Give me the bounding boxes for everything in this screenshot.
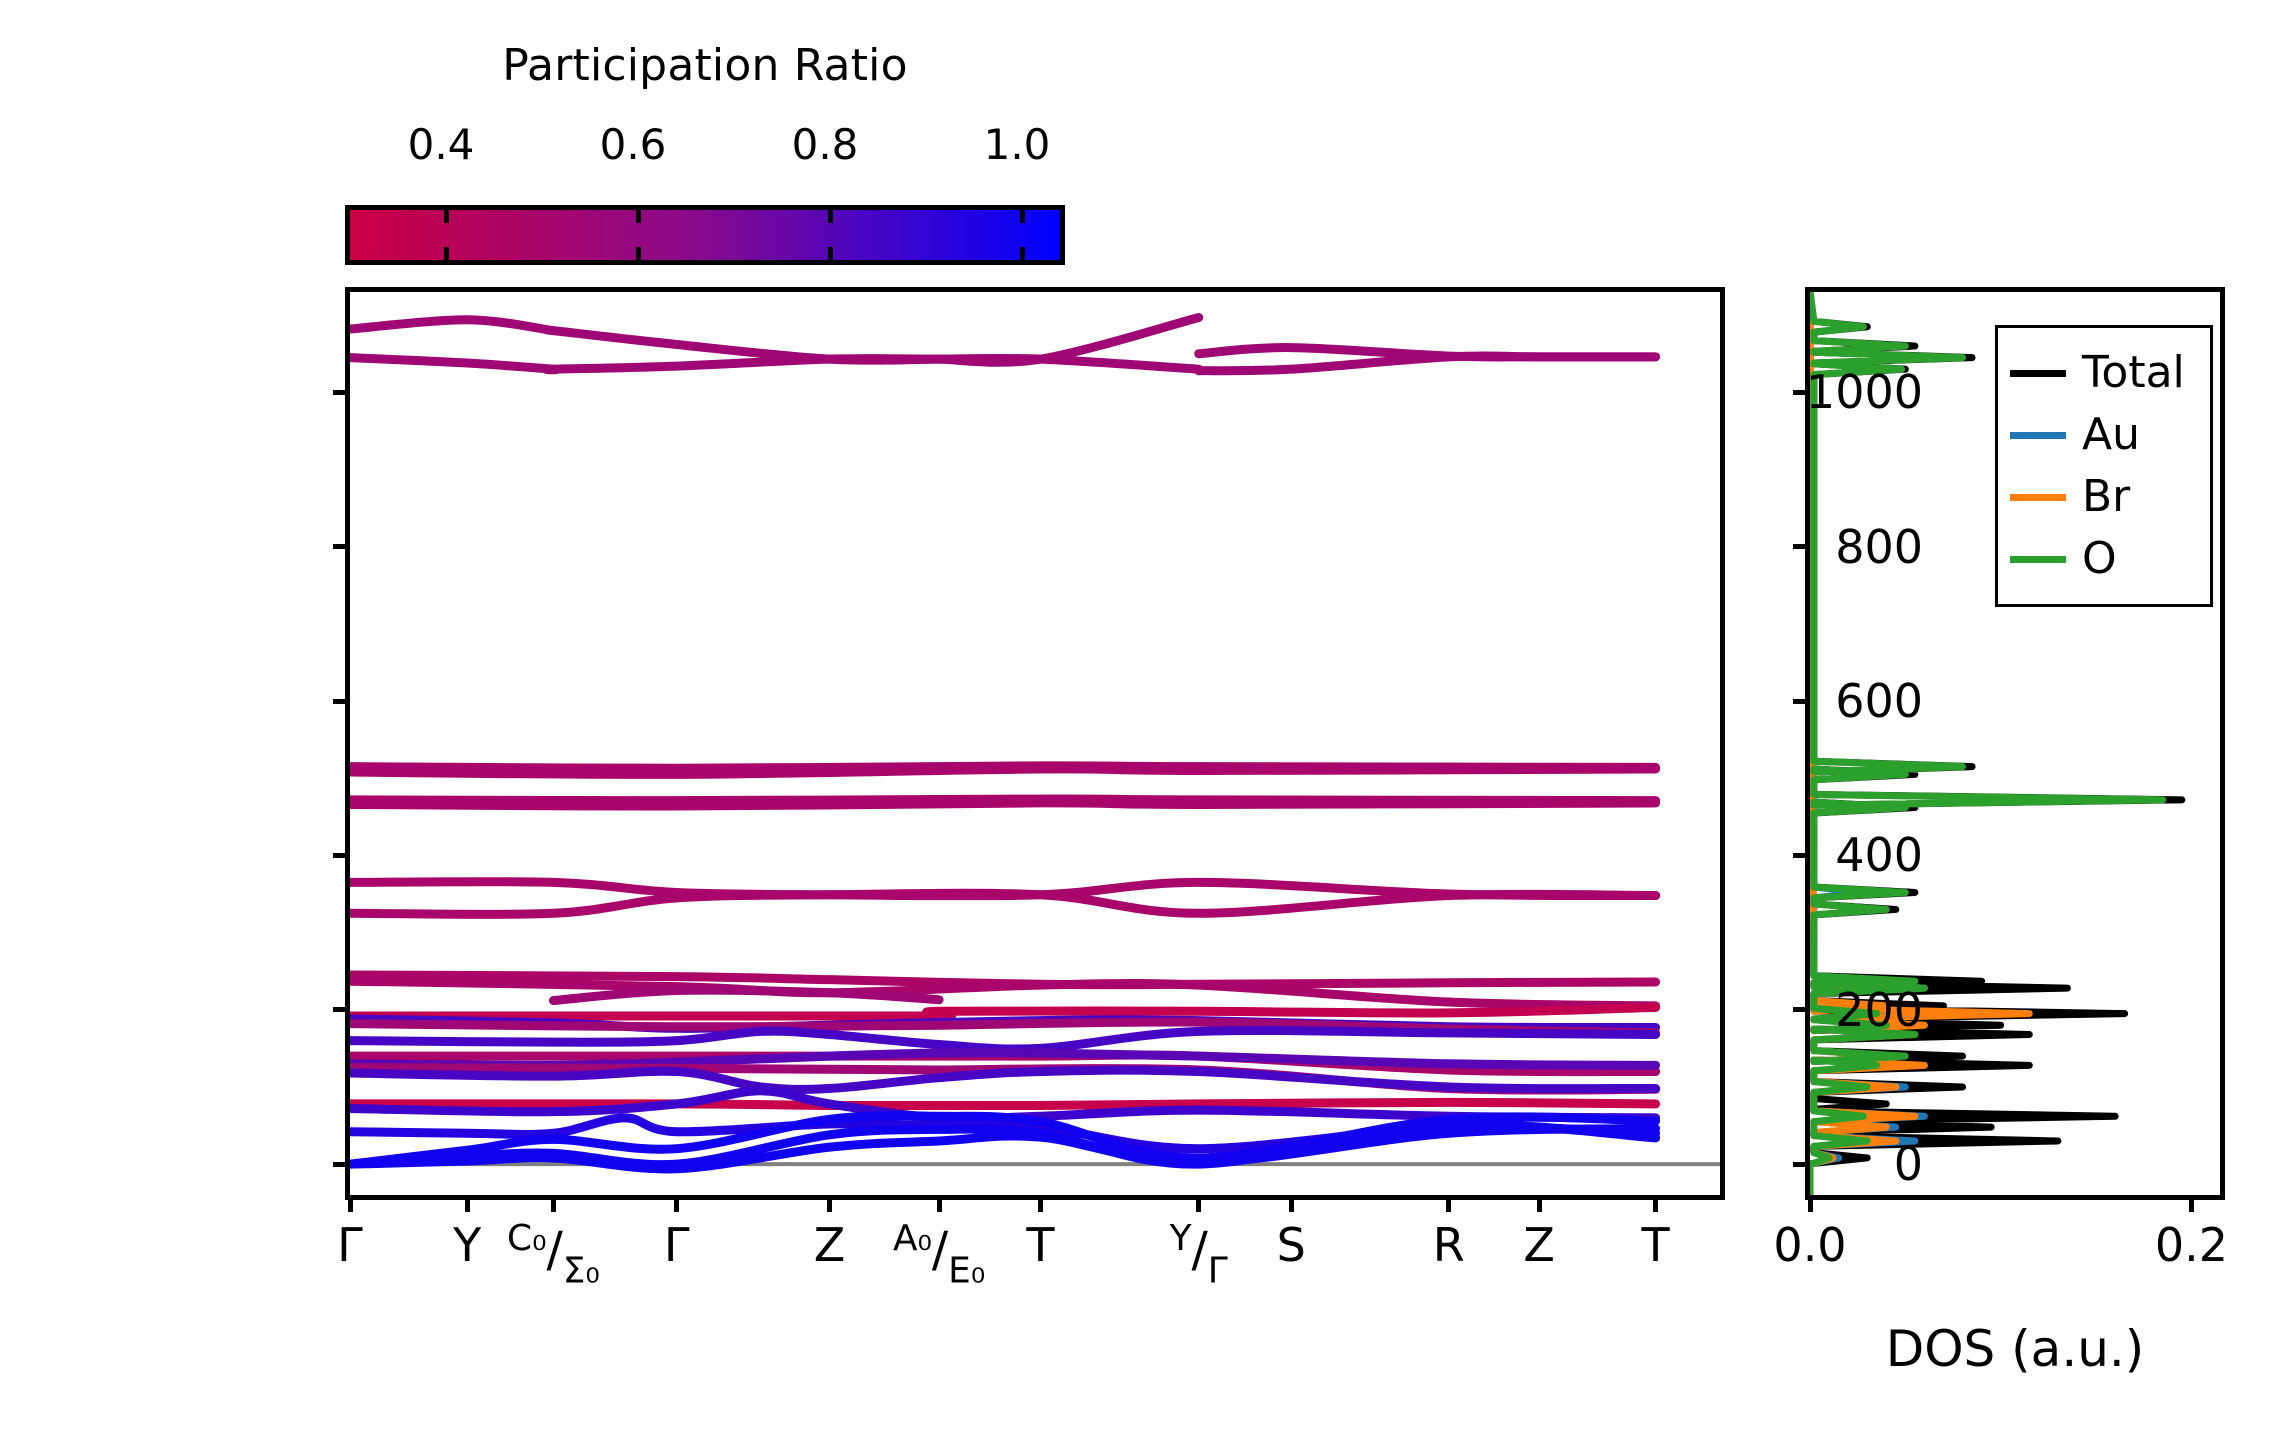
x-axis-tick-label: Γ	[337, 1218, 363, 1272]
colorbar-tick	[828, 247, 833, 260]
x-axis-tick-label: Y	[453, 1218, 481, 1272]
dos-y-axis-tick	[1793, 699, 1810, 704]
phonon-band	[1199, 356, 1656, 371]
x-axis-tick-label: C₀/Σ₀	[507, 1218, 600, 1291]
legend-entry-o: O	[2010, 528, 2198, 590]
x-axis-tick	[1038, 1195, 1043, 1212]
legend-color-swatch	[2010, 556, 2066, 563]
colorbar-title: Participation Ratio	[345, 40, 1065, 91]
x-axis-tick	[348, 1195, 353, 1212]
colorbar-tick-label: 0.6	[563, 120, 703, 169]
y-axis-tick	[333, 699, 350, 704]
dos-x-axis-tick	[1808, 1195, 1813, 1212]
x-axis-tick	[827, 1195, 832, 1212]
y-axis-tick-label: 1000	[1806, 365, 1923, 419]
x-axis-tick	[551, 1195, 556, 1212]
x-axis-tick	[1446, 1195, 1451, 1212]
y-axis-tick	[333, 1007, 350, 1012]
dos-y-axis-tick	[1793, 853, 1810, 858]
colorbar-tick	[444, 247, 449, 260]
colorbar-tick	[1020, 247, 1025, 260]
x-axis-tick-label: S	[1277, 1218, 1306, 1272]
y-axis-tick-label: 400	[1835, 828, 1923, 882]
y-axis-tick-label: 0	[1894, 1137, 1923, 1191]
phonon-band	[350, 803, 1656, 806]
y-axis-tick-label: 800	[1835, 520, 1923, 574]
y-axis-tick	[333, 853, 350, 858]
phonon-band	[350, 893, 1656, 914]
x-axis-tick-label: A₀/E₀	[893, 1218, 985, 1291]
colorbar-box	[345, 205, 1065, 265]
x-axis-tick-label: Z	[814, 1218, 846, 1272]
legend-color-swatch	[2010, 370, 2066, 377]
x-axis-tick	[1289, 1195, 1294, 1212]
legend-entry-au: Au	[2010, 404, 2198, 466]
phonon-band	[350, 1007, 1656, 1016]
x-axis-tick	[1653, 1195, 1658, 1212]
x-axis-tick	[1537, 1195, 1542, 1212]
legend-label: Total	[2082, 351, 2185, 395]
legend-color-swatch	[2010, 432, 2066, 439]
x-axis-tick-label: Y/Γ	[1170, 1218, 1228, 1291]
legend-color-swatch	[2010, 494, 2066, 501]
phonon-band	[350, 358, 1199, 370]
y-axis-tick	[333, 1162, 350, 1167]
phonon-band	[350, 1102, 1656, 1105]
dos-legend: TotalAuBrO	[1995, 325, 2213, 607]
colorbar-tick-label: 1.0	[947, 120, 1087, 169]
x-axis-tick-label: Z	[1523, 1218, 1555, 1272]
colorbar-tick	[828, 210, 833, 223]
x-axis-tick-label: T	[1642, 1218, 1670, 1272]
figure-canvas: Participation Ratio TotalAuBrO Frequency…	[0, 0, 2275, 1455]
dos-y-axis-tick	[1793, 1162, 1810, 1167]
dos-x-axis-tick-label: 0.0	[1773, 1218, 1846, 1272]
y-axis-tick-label: 200	[1835, 983, 1923, 1037]
x-axis-tick-label: R	[1433, 1218, 1465, 1272]
x-axis-tick-label: T	[1026, 1218, 1054, 1272]
phonon-band	[350, 769, 1656, 775]
colorbar-tick	[444, 210, 449, 223]
band-structure-panel	[345, 287, 1725, 1200]
dos-x-axis-tick-label: 0.2	[2155, 1218, 2228, 1272]
phonon-band	[553, 990, 939, 1000]
legend-label: Br	[2082, 475, 2130, 519]
x-axis-tick	[674, 1195, 679, 1212]
legend-entry-br: Br	[2010, 466, 2198, 528]
colorbar-tick	[636, 247, 641, 260]
y-axis-tick	[333, 544, 350, 549]
legend-label: Au	[2082, 413, 2140, 457]
phonon-band	[350, 1030, 1656, 1049]
legend-entry-total: Total	[2010, 342, 2198, 404]
dos-x-axis-tick	[2189, 1195, 2194, 1212]
colorbar-tick	[1020, 210, 1025, 223]
colorbar-gradient	[350, 210, 1060, 260]
colorbar-tick-label: 0.8	[755, 120, 895, 169]
colorbar-tick	[636, 210, 641, 223]
y-axis-tick-label: 600	[1835, 674, 1923, 728]
phonon-band	[350, 317, 1199, 362]
dos-y-axis-tick	[1793, 1007, 1810, 1012]
x-axis-tick	[937, 1195, 942, 1212]
participation-ratio-colorbar	[345, 205, 1065, 265]
x-axis-tick	[1196, 1195, 1201, 1212]
band-structure-plot	[350, 292, 1720, 1195]
x-axis-tick-label: Γ	[664, 1218, 690, 1272]
dos-y-axis-tick	[1793, 544, 1810, 549]
dos-x-axis-title: DOS (a.u.)	[1805, 1320, 2225, 1378]
colorbar-tick-label: 0.4	[371, 120, 511, 169]
legend-label: O	[2082, 537, 2117, 581]
y-axis-tick	[333, 390, 350, 395]
x-axis-tick	[465, 1195, 470, 1212]
